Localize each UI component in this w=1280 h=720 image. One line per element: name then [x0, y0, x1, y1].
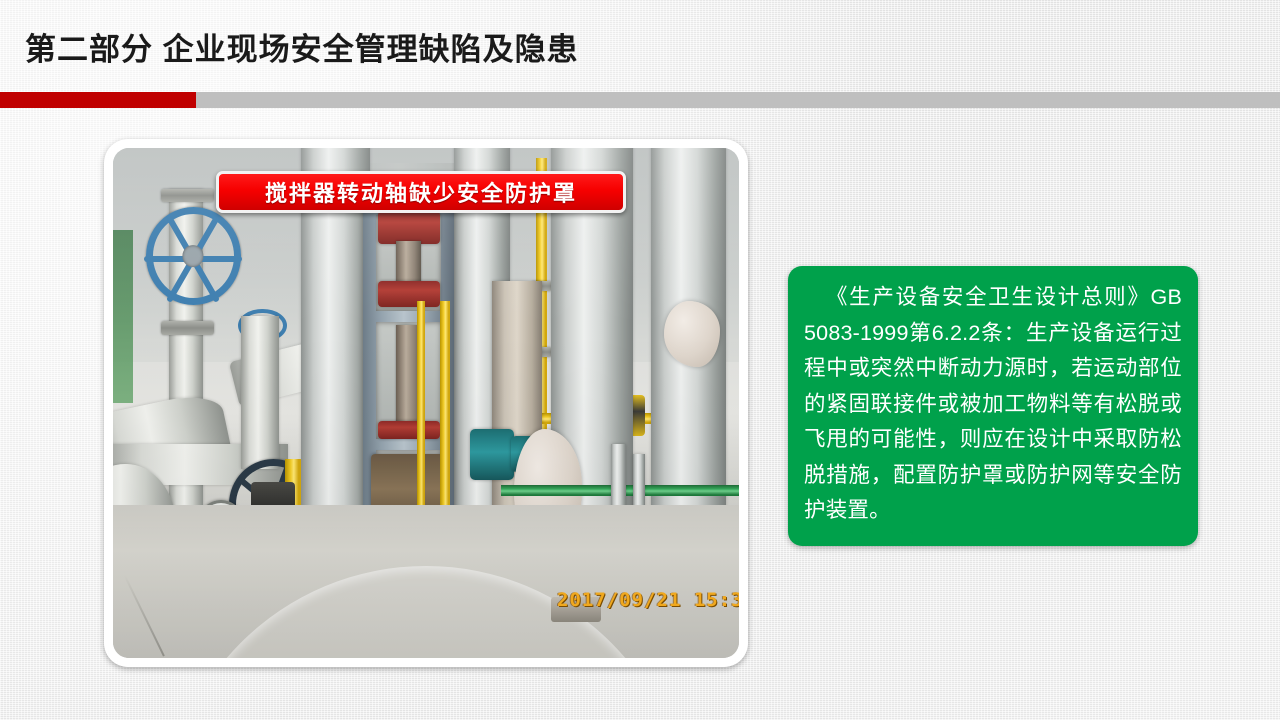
pipe-flange — [161, 321, 215, 334]
regulation-callout-box: 《生产设备安全卫生设计总则》GB 5083-1999第6.2.2条：生产设备运行… — [788, 266, 1198, 546]
agitator-coupling-upper — [378, 211, 440, 244]
agitator-coupling-mid — [378, 281, 440, 307]
caption-banner: 搅拌器转动轴缺少安全防护罩 — [216, 171, 626, 213]
gas-pipe-yellow-left-2 — [417, 301, 426, 536]
agitator-coupling-lower — [378, 421, 440, 439]
pump-motor-teal — [470, 429, 514, 480]
photo-timestamp: 2017/09/21 15:36 — [557, 589, 739, 611]
agitator-rotating-shaft — [396, 241, 421, 285]
caption-banner-text: 搅拌器转动轴缺少安全防护罩 — [265, 176, 577, 208]
regulation-text: 《生产设备安全卫生设计总则》GB 5083-1999第6.2.2条：生产设备运行… — [804, 280, 1182, 529]
pipe-flange — [161, 189, 215, 202]
page-title: 第二部分 企业现场安全管理缺陷及隐患 — [25, 30, 579, 70]
valve-handwheel-blue — [146, 207, 241, 305]
photo-card: 搅拌器转动轴缺少安全防护罩 2017/09/21 15:36 — [104, 139, 748, 667]
accent-bar — [0, 92, 1280, 108]
site-photo: 搅拌器转动轴缺少安全防护罩 2017/09/21 15:36 — [113, 148, 739, 658]
background-green-wall — [113, 230, 133, 403]
accent-bar-red-segment — [0, 92, 196, 108]
pipe-insulated-vertical-mid — [241, 316, 279, 469]
presentation-slide: 第二部分 企业现场安全管理缺陷及隐患 — [0, 0, 1280, 720]
